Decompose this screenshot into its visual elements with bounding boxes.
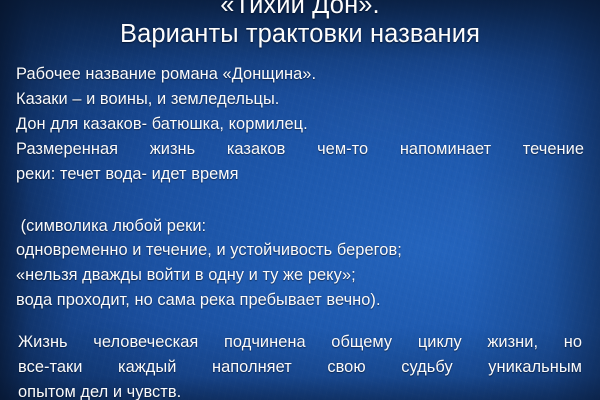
- presentation-slide: «Тихий Дон». Варианты трактовки названия…: [0, 0, 600, 400]
- body-line-5: реки: течет вода- идет время: [16, 162, 584, 187]
- body-line-6: (символика любой реки:: [16, 214, 584, 239]
- body-line-3: Дон для казаков- батюшка, кормилец.: [16, 112, 584, 137]
- body-line-4: Размеренная жизнь казаков чем-то напомин…: [16, 137, 584, 162]
- slide-title-line-2: Варианты трактовки названия: [0, 20, 600, 49]
- slide-title: «Тихий Дон». Варианты трактовки названия: [0, 0, 600, 49]
- slide-closing-paragraph: Жизнь человеческая подчинена общему цикл…: [18, 330, 582, 400]
- closing-line-3: опытом дел и чувств.: [18, 380, 582, 400]
- closing-line-2: все-таки каждый наполняет свою судьбу ун…: [18, 355, 582, 380]
- closing-line-1: Жизнь человеческая подчинена общему цикл…: [18, 330, 582, 355]
- slide-title-line-1: «Тихий Дон».: [0, 0, 600, 20]
- body-line-8: «нельзя дважды войти в одну и ту же реку…: [16, 263, 584, 288]
- slide-body-text: Рабочее название романа «Донщина».Казаки…: [16, 62, 584, 313]
- body-line-2: Казаки – и воины, и земледельцы.: [16, 87, 584, 112]
- body-line-1: Рабочее название романа «Донщина».: [16, 62, 584, 87]
- body-line-7: одновременно и течение, и устойчивость б…: [16, 238, 584, 263]
- body-line-9: вода проходит, но сама река пребывает ве…: [16, 288, 584, 313]
- paragraph-spacer: [16, 187, 584, 214]
